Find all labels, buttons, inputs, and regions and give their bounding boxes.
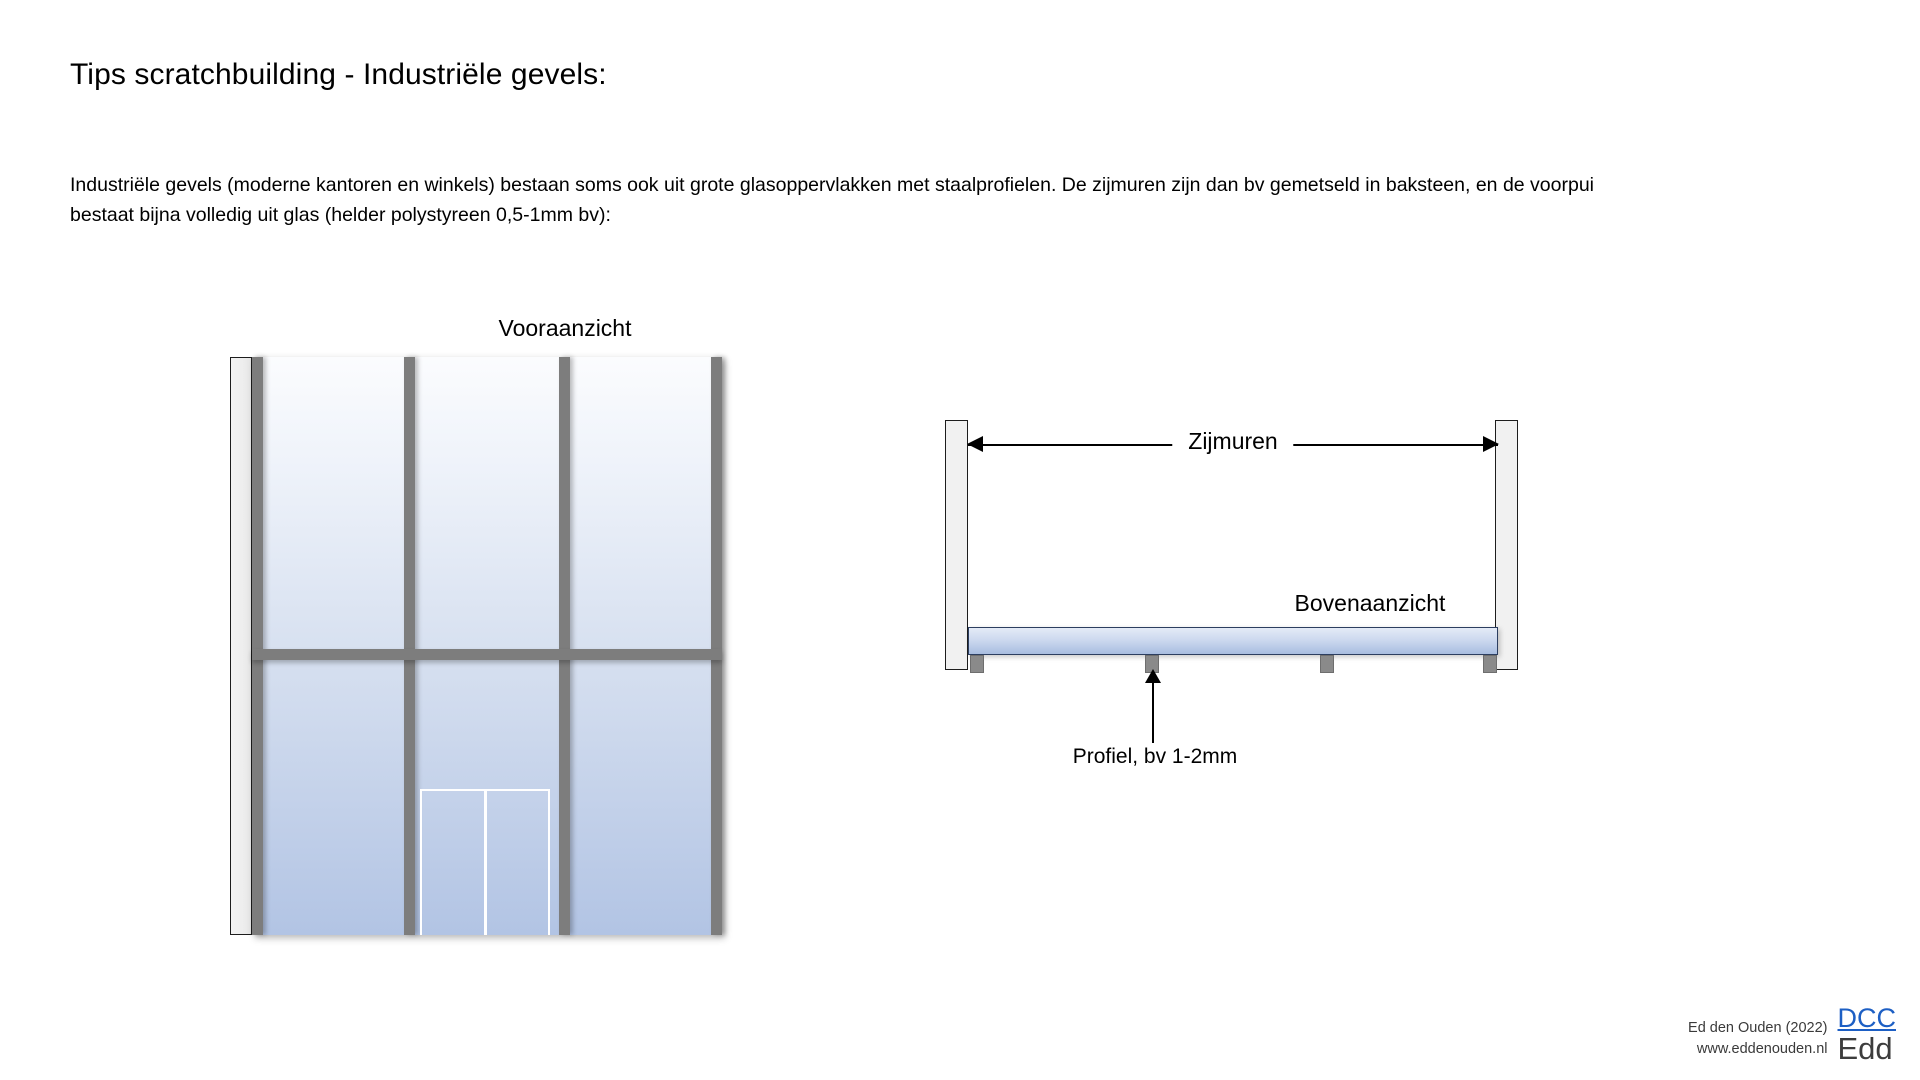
page-title: Tips scratchbuilding - Industriële gevel…: [70, 58, 607, 92]
front-view-label: Vooraanzicht: [415, 315, 715, 342]
top-view-right-side-wall: [1495, 420, 1518, 670]
top-view-glass-strip: [968, 627, 1498, 655]
top-view-diagram: Zijmuren Bovenaanzicht Profiel, bv 1-2mm: [930, 415, 1790, 795]
slide-canvas: Tips scratchbuilding - Industriële gevel…: [0, 0, 1920, 1080]
top-view-left-side-wall: [945, 420, 968, 670]
author-line: Ed den Ouden (2022): [1688, 1018, 1827, 1039]
dcc-link[interactable]: DCC: [1838, 1005, 1897, 1032]
mullion-vertical-3: [559, 357, 570, 935]
arrow-right-icon: [1483, 436, 1499, 452]
website-line[interactable]: www.eddenouden.nl: [1688, 1039, 1827, 1060]
edd-wordmark: Edd: [1838, 1033, 1897, 1064]
zijmuren-label: Zijmuren: [1172, 428, 1293, 455]
mullion-vertical-4: [711, 357, 722, 935]
profile-block-4: [1483, 655, 1497, 673]
logo-block: DCC Edd: [1838, 1005, 1897, 1064]
zijmuren-dimension: Zijmuren: [968, 433, 1498, 457]
front-view-stage: [230, 357, 740, 935]
door-center-divider: [484, 789, 487, 935]
callout-leader-line: [1152, 677, 1154, 743]
top-view-label: Bovenaanzicht: [1110, 590, 1630, 617]
paragraph-line-2: bestaat bijna volledig uit glas (helder …: [70, 200, 1830, 230]
mullion-horizontal-transom: [252, 649, 722, 660]
paragraph-line-1: Industriële gevels (moderne kantoren en …: [70, 170, 1830, 200]
footer: Ed den Ouden (2022) www.eddenouden.nl DC…: [1688, 1005, 1896, 1064]
profile-block-3: [1320, 655, 1334, 673]
mullion-vertical-1: [252, 357, 263, 935]
front-view-diagram: Vooraanzicht: [230, 315, 750, 925]
front-glass-facade: [252, 357, 722, 935]
credit-block: Ed den Ouden (2022) www.eddenouden.nl: [1688, 1018, 1827, 1064]
profile-block-1: [970, 655, 984, 673]
intro-paragraph: Industriële gevels (moderne kantoren en …: [70, 170, 1830, 230]
front-left-brick-pillar: [230, 357, 252, 935]
mullion-vertical-2: [404, 357, 415, 935]
profiel-callout-label: Profiel, bv 1-2mm: [990, 745, 1320, 769]
arrow-left-icon: [967, 436, 983, 452]
